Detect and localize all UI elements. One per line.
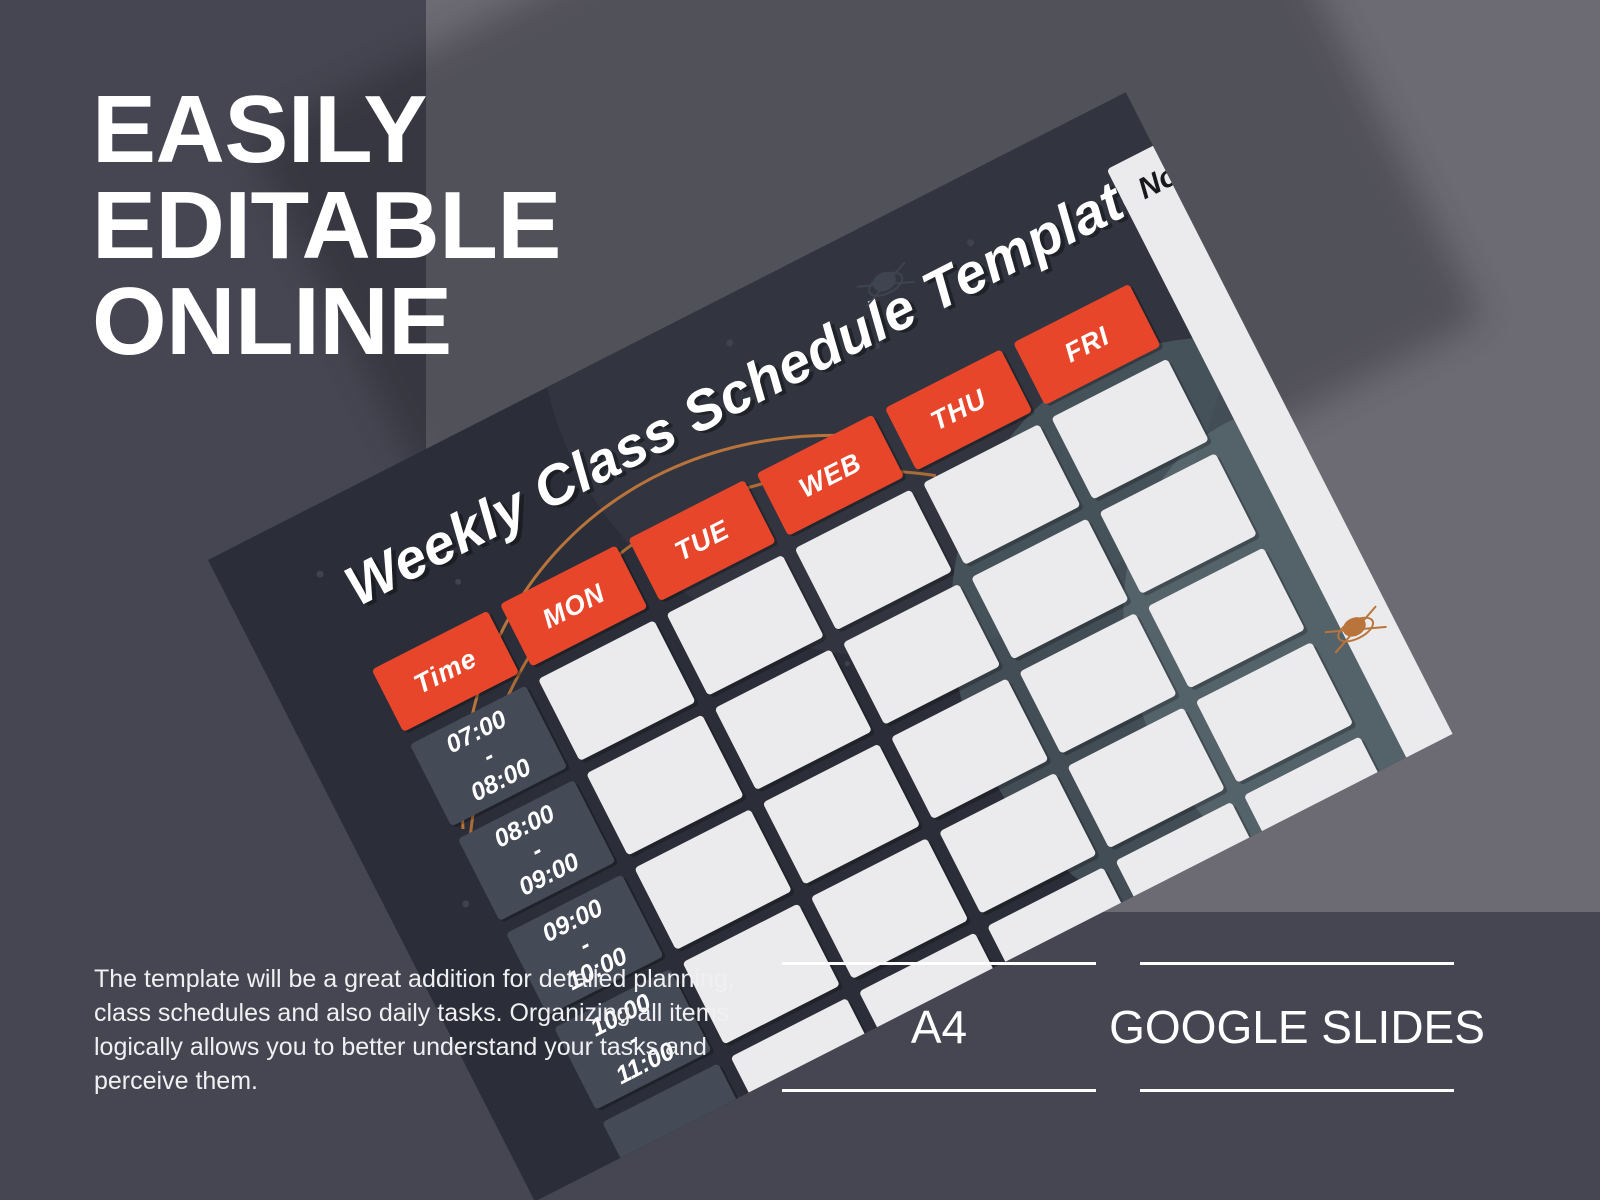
badge-label: A4: [911, 1001, 967, 1053]
badge-rule-top: [1140, 962, 1454, 965]
poster-speckle: [315, 569, 324, 578]
format-badges: A4 GOOGLE SLIDES: [782, 962, 1454, 1092]
badge-google-slides: GOOGLE SLIDES: [1140, 962, 1454, 1092]
badge-label: GOOGLE SLIDES: [1109, 1001, 1485, 1053]
badge-rule-top: [782, 962, 1096, 965]
page-title: EASILY EDITABLE ONLINE: [92, 82, 792, 370]
description-text: The template will be a great addition fo…: [94, 962, 754, 1098]
badge-a4: A4: [782, 962, 1096, 1092]
poster-speckle: [454, 578, 462, 586]
badge-rule-bottom: [782, 1089, 1096, 1092]
badge-rule-bottom: [1140, 1089, 1454, 1092]
slide-canvas: Weekly Class Schedule Template Time MON …: [0, 0, 1600, 1200]
